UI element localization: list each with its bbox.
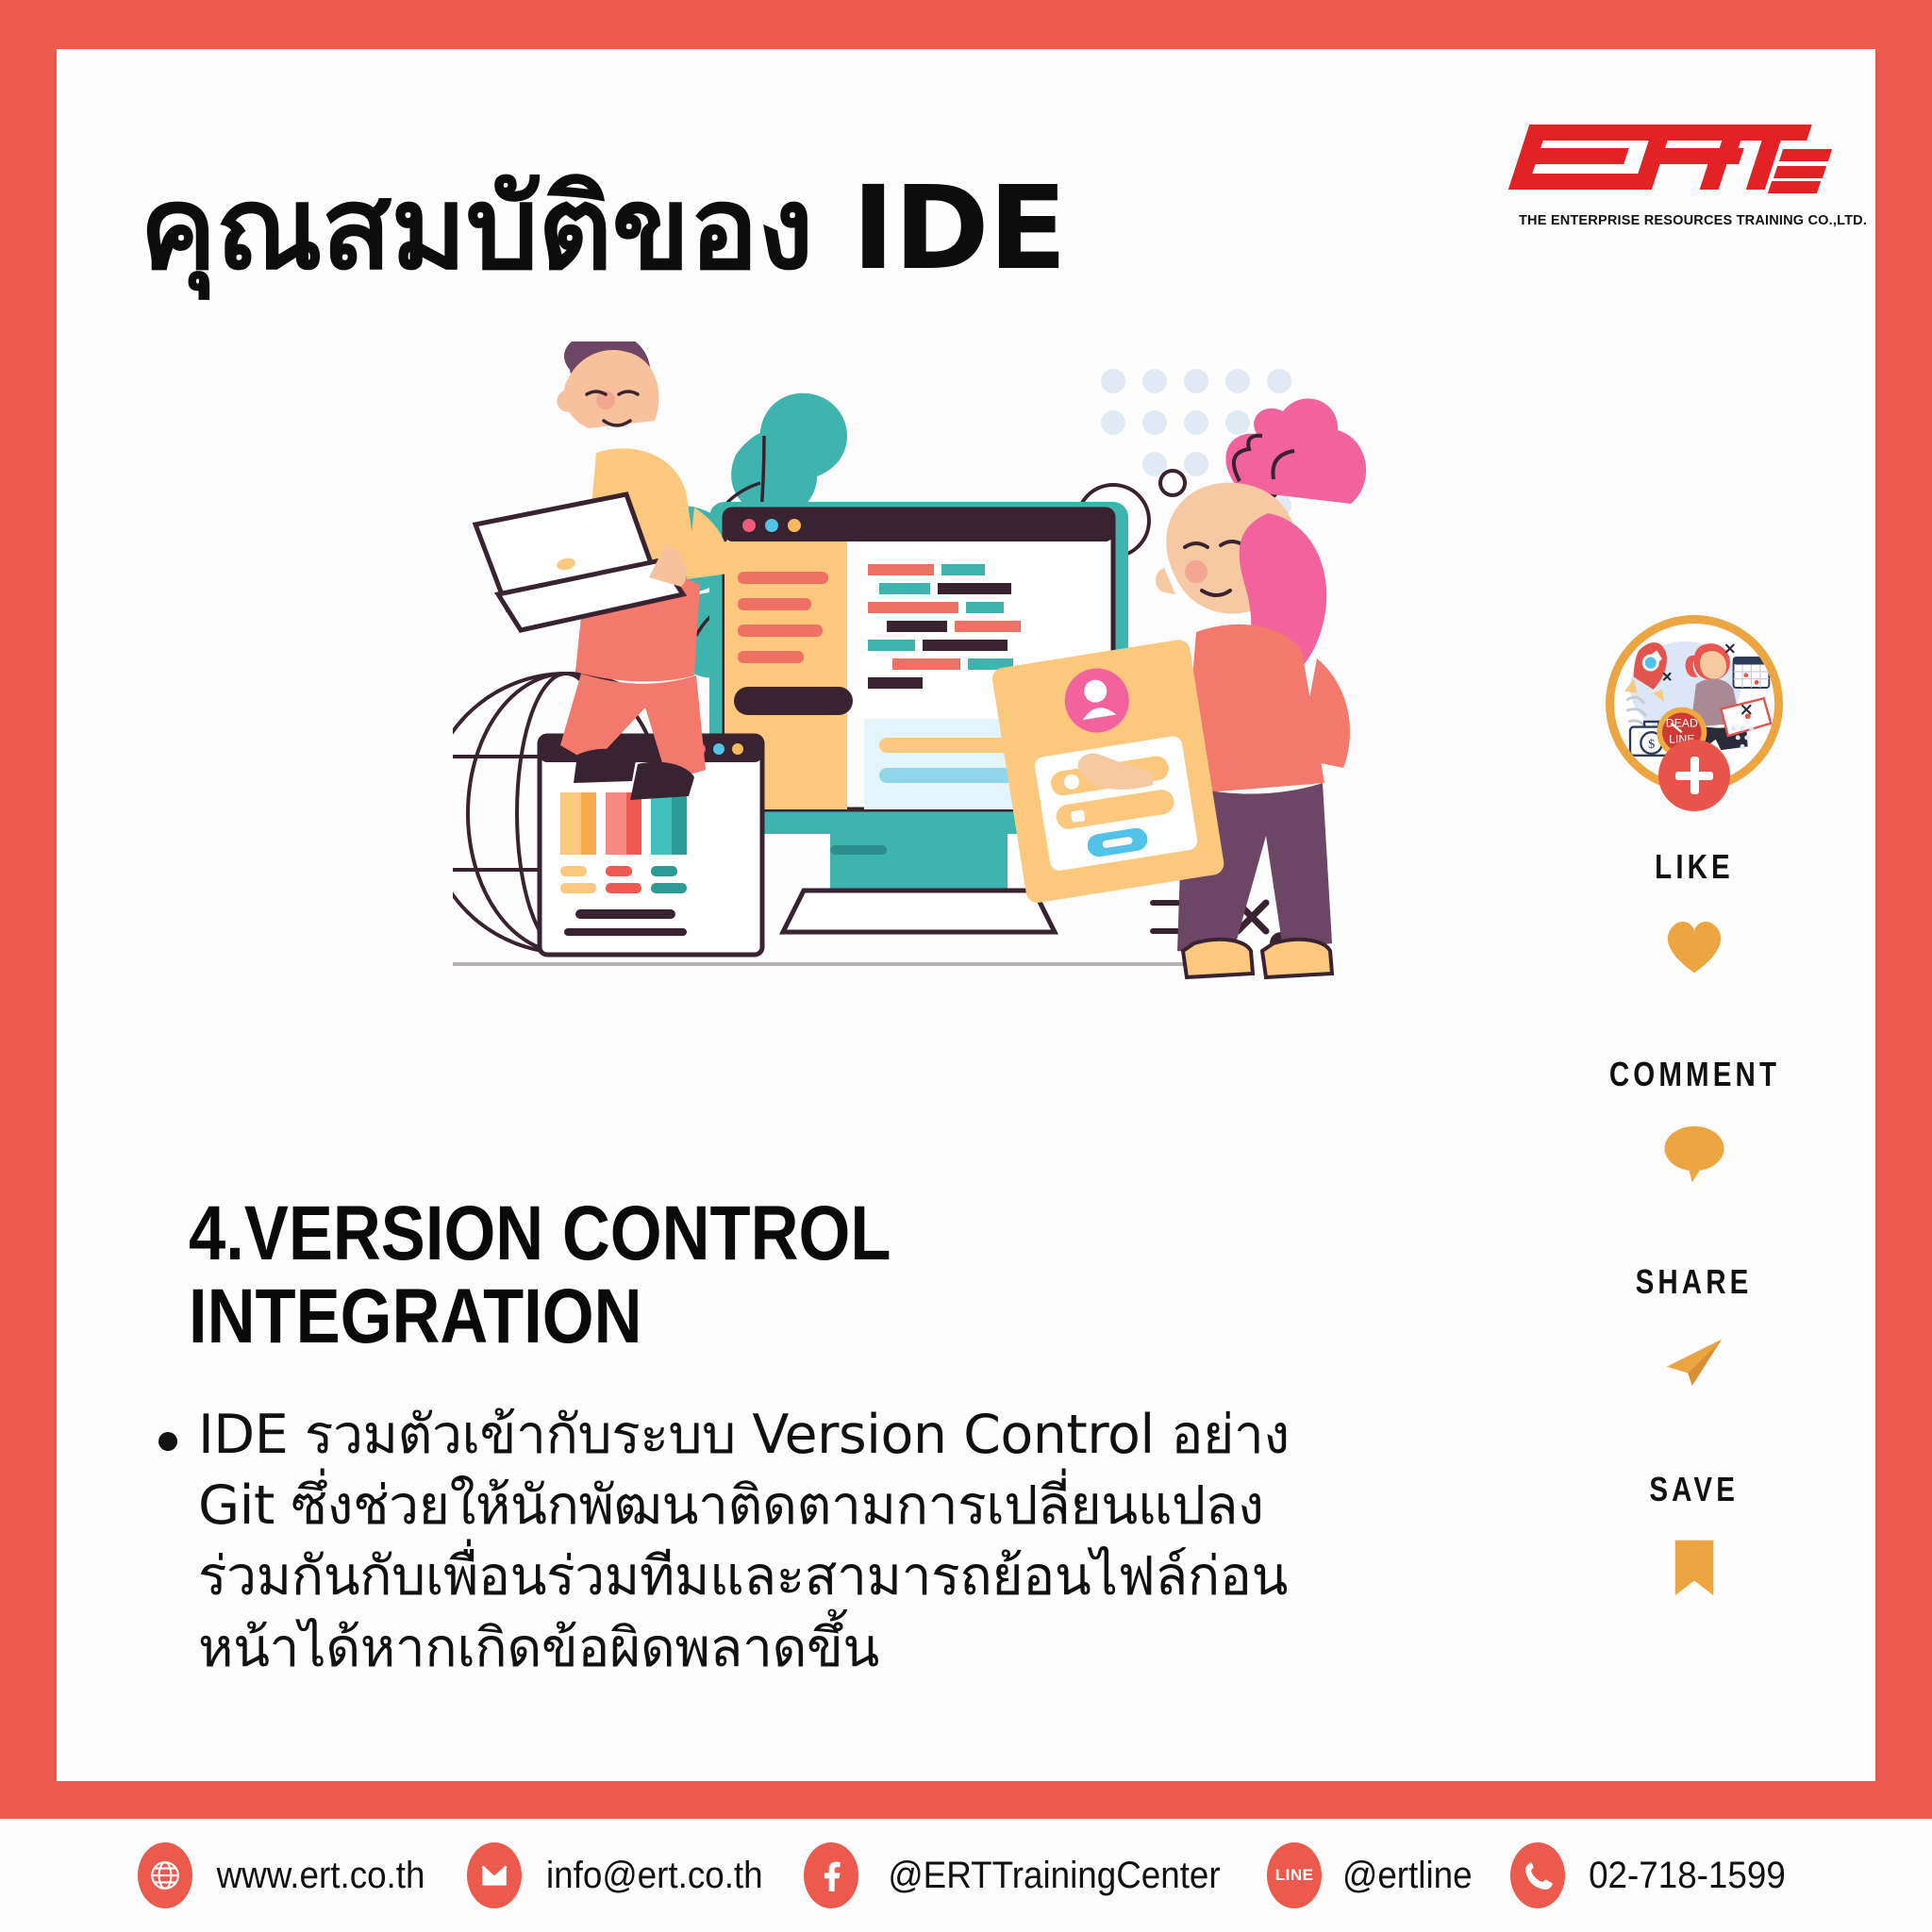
rail-label-like: LIKE [1655,847,1734,887]
rail-item-like[interactable]: LIKE [1646,847,1742,1055]
paper-plane-icon[interactable] [1660,1326,1728,1394]
poster-card: คุณสมบัติของ IDE [57,49,1875,1781]
bullet-point-icon [158,1432,177,1451]
hero-illustration [453,341,1509,1172]
comment-bubble-icon[interactable] [1660,1119,1728,1187]
rail-item-save[interactable]: SAVE [1640,1470,1748,1602]
footer-item-website[interactable]: www.ert.co.th [138,1842,434,1908]
rail-label-share: SHARE [1636,1262,1753,1302]
footer-item-email[interactable]: info@ert.co.th [467,1842,773,1908]
avatar-badge-line1: DEAD [1666,717,1698,730]
contact-footer: www.ert.co.th info@ert.co.th @ERTTrainin… [0,1819,1932,1932]
svg-text:$: $ [1648,737,1655,752]
ert-logo: THE ENTERPRISE RESOURCES TRAINING CO.,LT… [1519,123,1821,228]
envelope-icon [467,1842,522,1908]
avatar[interactable]: $ DEAD LINE [1606,615,1783,792]
social-engagement-rail: $ DEAD LINE [1600,615,1789,1602]
bullet-item-text: IDE รวมตัวเข้ากับระบบ Version Control อย… [198,1400,1319,1684]
footer-item-line[interactable]: LINE @ertline [1267,1842,1478,1908]
footer-text-email: info@ert.co.th [546,1855,763,1897]
logo-tagline: THE ENTERPRISE RESOURCES TRAINING CO.,LT… [1519,213,1821,228]
globe-icon [138,1842,192,1908]
bullet-list: IDE รวมตัวเข้ากับระบบ Version Control อย… [158,1400,1319,1684]
rail-item-share[interactable]: SHARE [1623,1262,1765,1470]
poster-frame: คุณสมบัติของ IDE [0,0,1932,1932]
line-icon-label: LINE [1275,1866,1314,1885]
rail-label-save: SAVE [1650,1470,1740,1509]
line-icon: LINE [1267,1842,1322,1908]
footer-text-line: @ertline [1342,1855,1473,1897]
footer-text-website: www.ert.co.th [217,1855,425,1897]
section-heading: 4.VERSION CONTROL INTEGRATION [189,1192,1000,1357]
footer-item-facebook[interactable]: @ERTTrainingCenter [804,1842,1235,1908]
rail-item-comment[interactable]: COMMENT [1591,1055,1799,1262]
ert-logo-mark [1519,123,1821,198]
footer-item-phone[interactable]: 02-718-1599 [1510,1842,1794,1908]
footer-text-phone: 02-718-1599 [1589,1855,1786,1897]
phone-icon [1510,1842,1565,1908]
rail-label-comment: COMMENT [1608,1055,1779,1094]
page-title: คุณสมบัติของ IDE [140,136,1066,319]
facebook-icon [804,1842,858,1908]
heart-icon[interactable] [1660,911,1728,979]
footer-text-facebook: @ERTTrainingCenter [888,1855,1220,1897]
bookmark-icon[interactable] [1660,1534,1728,1602]
follow-plus-icon[interactable] [1658,740,1730,811]
